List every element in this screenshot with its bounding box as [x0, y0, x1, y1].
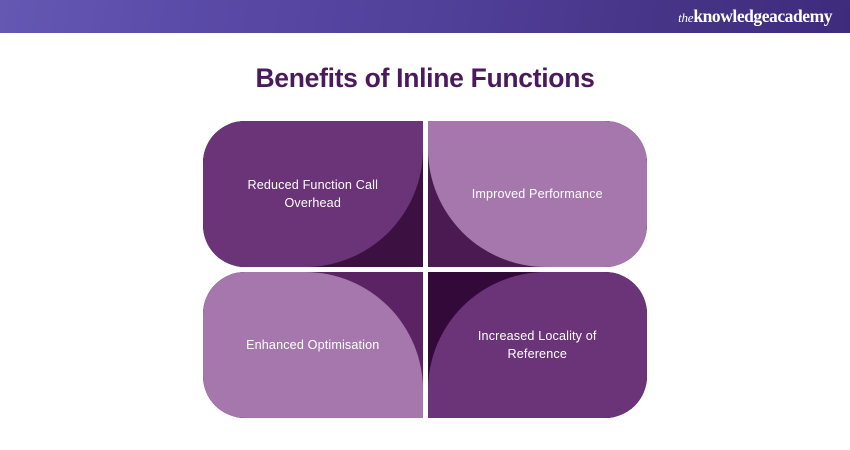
benefits-quadrant-diagram: Reduced Function Call Overhead Improved …	[203, 121, 647, 418]
benefit-card-improved-performance[interactable]: Improved Performance	[428, 121, 648, 267]
benefit-card-label: Improved Performance	[456, 185, 619, 203]
brand-prefix: the	[678, 11, 693, 24]
header-bar: theknowledgeacademy	[0, 0, 850, 33]
benefit-card-enhanced-optimisation[interactable]: Enhanced Optimisation	[203, 272, 423, 418]
page-title: Benefits of Inline Functions	[0, 63, 850, 94]
brand-word-academy: academy	[769, 8, 832, 26]
brand-logo: theknowledgeacademy	[678, 8, 832, 26]
brand-word-knowledge: knowledge	[693, 8, 769, 26]
benefit-card-reduced-function-call-overhead[interactable]: Reduced Function Call Overhead	[203, 121, 423, 267]
benefit-card-label: Reduced Function Call Overhead	[218, 176, 408, 213]
benefit-card-label: Enhanced Optimisation	[230, 336, 395, 354]
benefit-card-label: Increased Locality of Reference	[442, 327, 632, 364]
benefit-card-increased-locality-of-reference[interactable]: Increased Locality of Reference	[428, 272, 648, 418]
